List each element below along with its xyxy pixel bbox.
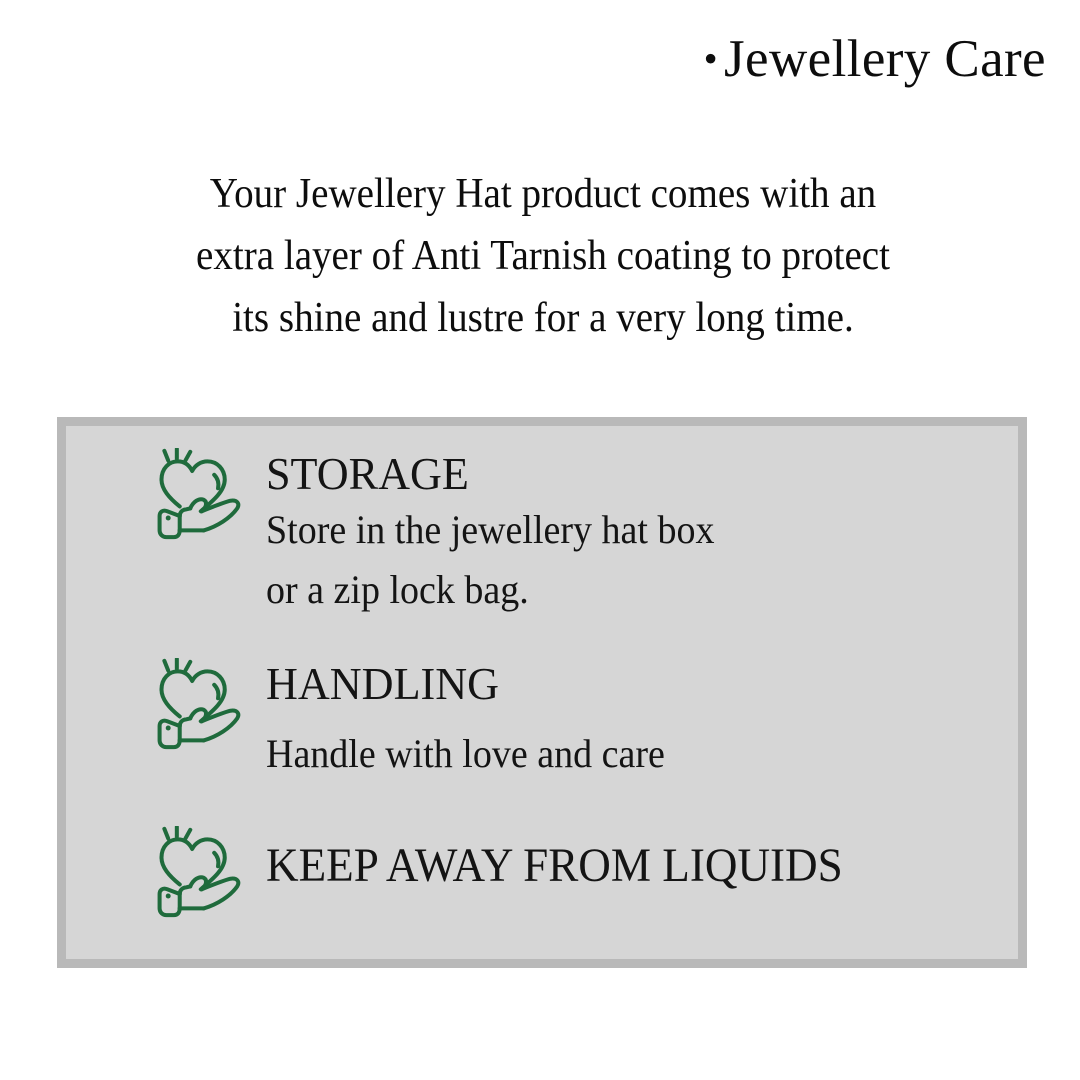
care-desc-storage-line-1: Store in the jewellery hat box: [266, 500, 714, 560]
hand-holding-heart-icon: [148, 826, 244, 918]
care-text-storage: STORAGE Store in the jewellery hat box o…: [266, 448, 738, 620]
bullet-glyph: •: [704, 36, 718, 81]
page-title-label: Jewellery Care: [724, 30, 1046, 88]
intro-line-2: extra layer of Anti Tarnish coating to p…: [94, 225, 992, 287]
care-text-keep-away-from-liquids: KEEP AWAY FROM LIQUIDS: [266, 826, 880, 892]
page-title-text: •Jewellery Care: [704, 30, 1046, 88]
care-desc-handling-line-1: Handle with love and care: [266, 724, 665, 784]
care-title-keep-away-from-liquids: KEEP AWAY FROM LIQUIDS: [266, 826, 843, 892]
care-instructions-panel: STORAGE Store in the jewellery hat box o…: [57, 417, 1027, 968]
care-title-storage: STORAGE: [266, 448, 719, 500]
hand-holding-heart-icon: [148, 658, 244, 750]
care-title-handling: HANDLING: [266, 658, 669, 710]
intro-paragraph: Your Jewellery Hat product comes with an…: [60, 163, 1026, 349]
care-item-handling: HANDLING Handle with love and care: [148, 658, 686, 784]
intro-line-3: its shine and lustre for a very long tim…: [94, 287, 992, 349]
hand-holding-heart-icon: [148, 448, 244, 540]
page-title: •Jewellery Care: [0, 30, 1046, 88]
care-item-storage: STORAGE Store in the jewellery hat box o…: [148, 448, 738, 620]
care-list: STORAGE Store in the jewellery hat box o…: [66, 426, 1018, 959]
care-item-keep-away-from-liquids: KEEP AWAY FROM LIQUIDS: [148, 826, 880, 918]
care-desc-storage-line-2: or a zip lock bag.: [266, 560, 714, 620]
care-text-handling: HANDLING Handle with love and care: [266, 658, 686, 784]
intro-line-1: Your Jewellery Hat product comes with an: [94, 163, 992, 225]
